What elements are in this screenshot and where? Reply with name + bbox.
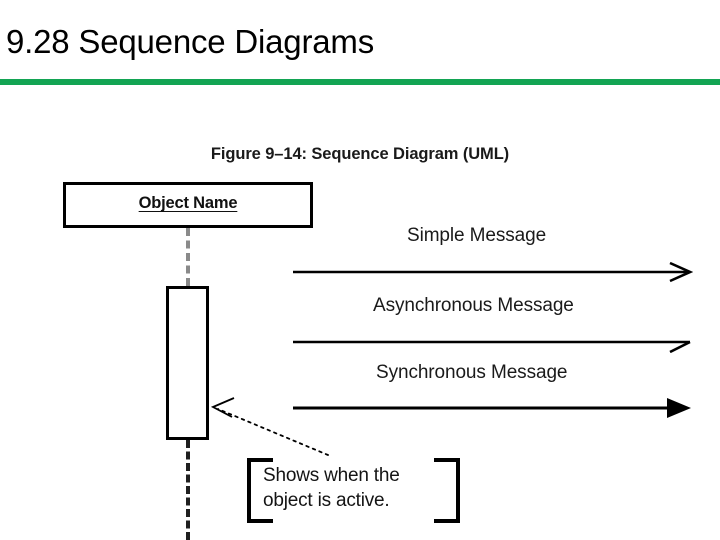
message-arrow-synchronous (293, 397, 693, 419)
message-arrow-simple (293, 261, 693, 283)
simple-message-arrow-icon (293, 261, 693, 283)
lifeline-dashed-upper (186, 228, 190, 286)
callout-text: Shows when the object is active. (263, 463, 448, 513)
sequence-diagram-figure: Figure 9–14: Sequence Diagram (UML) Obje… (0, 85, 720, 540)
callout-text-line2: object is active. (263, 488, 448, 513)
callout-box: Shows when the object is active. (247, 458, 460, 523)
message-label-synchronous: Synchronous Message (376, 362, 567, 384)
object-box: Object Name (63, 182, 313, 228)
message-arrow-asynchronous (293, 331, 693, 353)
message-label-simple: Simple Message (407, 225, 546, 247)
activation-bar (166, 286, 209, 440)
callout-text-line1: Shows when the (263, 463, 448, 488)
message-label-asynchronous: Asynchronous Message (373, 295, 574, 317)
asynchronous-message-arrow-icon (293, 331, 693, 353)
page-title: 9.28 Sequence Diagrams (6, 20, 374, 64)
synchronous-message-arrow-icon (293, 397, 693, 419)
figure-caption: Figure 9–14: Sequence Diagram (UML) (0, 145, 720, 164)
object-name-label: Object Name (66, 194, 310, 213)
lifeline-dashed-lower (186, 440, 190, 540)
